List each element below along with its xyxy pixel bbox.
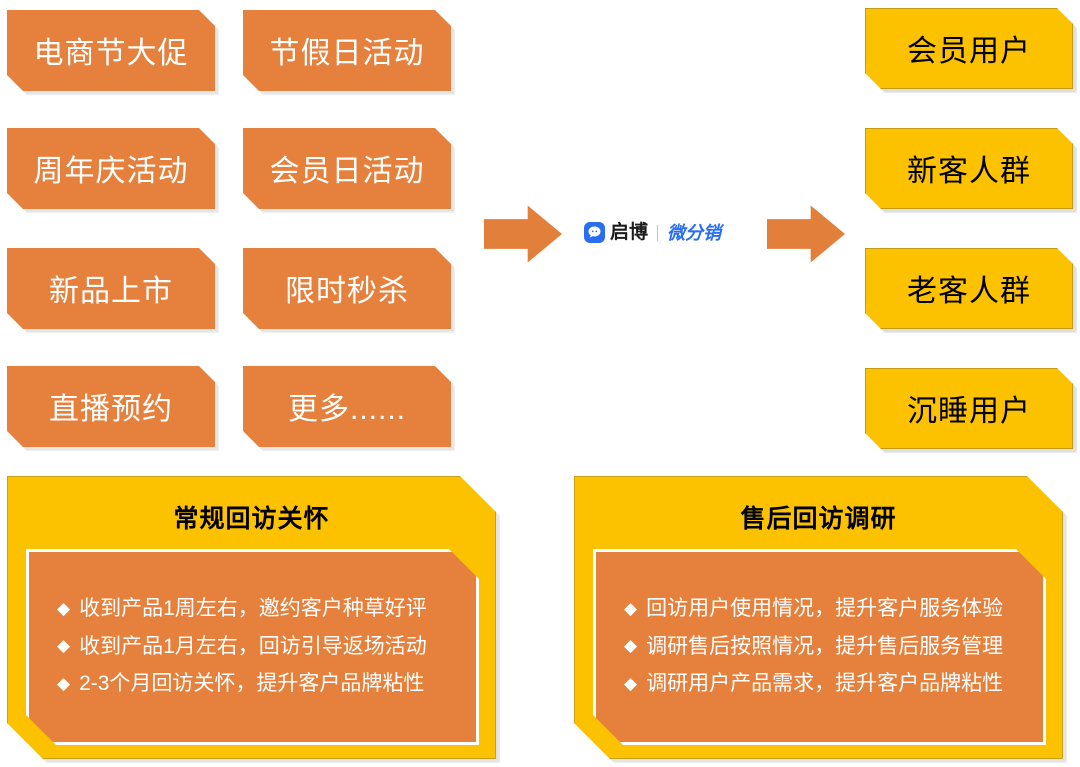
chat-bubble-icon [584,222,605,243]
panel-body: ◆ 回访用户使用情况，提升客户服务体验 ◆ 调研售后按照情况，提升售后服务管理 … [593,549,1046,745]
audience-chip-2[interactable]: 新客人群 [865,128,1073,209]
list-item: ◆ 收到产品1周左右，邀约客户种草好评 [57,597,476,622]
audience-chip-3[interactable]: 老客人群 [865,248,1073,329]
diamond-bullet-icon: ◆ [57,600,70,617]
panel-after-sales-followup-survey[interactable]: 售后回访调研 ◆ 回访用户使用情况，提升客户服务体验 ◆ 调研售后按照情况，提升… [574,476,1063,759]
scenario-chip-5[interactable]: 新品上市 [7,248,215,329]
list-item-text: 调研售后按照情况，提升售后服务管理 [646,635,1003,660]
audience-chip-label: 老客人群 [907,266,1031,310]
scenario-chip-label: 直播预约 [49,384,173,428]
list-item: ◆ 2-3个月回访关怀，提升客户品牌粘性 [57,672,476,697]
list-item-text: 收到产品1周左右，邀约客户种草好评 [79,597,427,622]
panel-body: ◆ 收到产品1周左右，邀约客户种草好评 ◆ 收到产品1月左右，回访引导返场活动 … [26,549,479,745]
arrow-right-shape [767,203,845,265]
panel-routine-followup-care[interactable]: 常规回访关怀 ◆ 收到产品1周左右，邀约客户种草好评 ◆ 收到产品1月左右，回访… [7,476,496,759]
diamond-bullet-icon: ◆ [624,675,637,692]
scenario-chip-label: 周年庆活动 [34,146,189,190]
logo-product-name: 微分销 [667,224,721,242]
scenario-chip-label: 更多...... [288,384,406,428]
scenario-chip-label: 节假日活动 [270,28,425,72]
scenario-chip-7[interactable]: 直播预约 [7,366,215,447]
panel-title: 常规回访关怀 [8,499,495,535]
qibo-weifenxiao-logo: 启博 微分销 [584,222,721,243]
scenario-chip-3[interactable]: 周年庆活动 [7,128,215,209]
audience-chip-1[interactable]: 会员用户 [865,8,1073,89]
scenario-chip-label: 限时秒杀 [285,266,409,310]
scenario-chip-label: 新品上市 [49,266,173,310]
arrow-right-shape [484,203,562,265]
audience-chip-4[interactable]: 沉睡用户 [865,368,1073,449]
diamond-bullet-icon: ◆ [624,637,637,654]
diamond-bullet-icon: ◆ [624,600,637,617]
logo-divider [657,225,658,241]
scenario-chip-4[interactable]: 会员日活动 [243,128,451,209]
list-item-text: 收到产品1月左右，回访引导返场活动 [79,635,427,660]
arrow-right-icon-right [767,203,845,265]
list-item-text: 回访用户使用情况，提升客户服务体验 [646,597,1003,622]
diamond-bullet-icon: ◆ [57,675,70,692]
audience-chip-label: 会员用户 [907,26,1031,70]
list-item: ◆ 调研用户产品需求，提升客户品牌粘性 [624,672,1043,697]
scenario-chip-label: 电商节大促 [34,28,189,72]
logo-brand-name: 启博 [610,223,648,242]
list-item: ◆ 收到产品1月左右，回访引导返场活动 [57,635,476,660]
scenario-chip-2[interactable]: 节假日活动 [243,10,451,91]
diagram-canvas: 电商节大促 节假日活动 周年庆活动 会员日活动 新品上市 限时秒杀 直播预约 更… [0,0,1080,767]
list-item-text: 2-3个月回访关怀，提升客户品牌粘性 [79,672,424,697]
panel-title: 售后回访调研 [575,499,1062,535]
audience-chip-label: 新客人群 [907,146,1031,190]
scenario-chip-6[interactable]: 限时秒杀 [243,248,451,329]
scenario-chip-8[interactable]: 更多...... [243,366,451,447]
scenario-chip-label: 会员日活动 [270,146,425,190]
list-item-text: 调研用户产品需求，提升客户品牌粘性 [646,672,1003,697]
audience-chip-label: 沉睡用户 [907,386,1031,430]
arrow-right-icon-left [484,203,562,265]
list-item: ◆ 调研售后按照情况，提升售后服务管理 [624,635,1043,660]
diamond-bullet-icon: ◆ [57,637,70,654]
scenario-chip-1[interactable]: 电商节大促 [7,10,215,91]
list-item: ◆ 回访用户使用情况，提升客户服务体验 [624,597,1043,622]
